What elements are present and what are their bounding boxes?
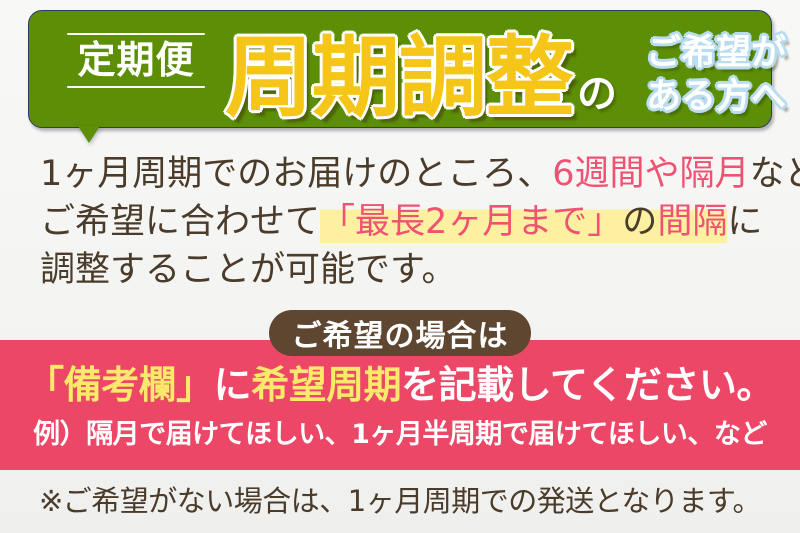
kicker-rule-bottom [67, 86, 205, 88]
pink-headline-part-b: に [214, 363, 252, 407]
kicker-block: 定期便 [61, 33, 211, 88]
kicker-rule-top [67, 33, 205, 35]
pink-example-text: 例）隔月で届けてほしい、1ヶ月半周期で届けてほしい、など [0, 418, 800, 452]
pink-headline: 「備考欄」に希望周期を記載してください。 [0, 362, 800, 408]
body-line1-part-c: など [750, 154, 800, 194]
headline-particle: の [577, 61, 617, 119]
footer-note: ※ご希望がない場合は、1ヶ月周期での発送となります。 [0, 482, 800, 520]
pink-callout-band: 「備考欄」に希望周期を記載してください。 例）隔月で届けてほしい、1ヶ月半周期で… [0, 340, 800, 470]
headline-sub-line1: ご希望が [633, 31, 799, 75]
pink-headline-part-c: 希望周期 [251, 363, 401, 407]
body-line1-part-b: 6週間や隔月 [552, 154, 749, 194]
condition-badge-label: ご希望の場合は [292, 311, 509, 355]
headline-sub-line2: ある方へ [633, 75, 799, 119]
body-paragraph: 1ヶ月周期でのお届けのところ、6週間や隔月など ご希望に合わせて「最長2ヶ月まで… [40, 150, 770, 294]
promo-banner: 定期便 周期調整 の ご希望が ある方へ 1ヶ月周期でのお届けのところ、6週間や… [0, 0, 800, 533]
speech-bubble-tail-icon [78, 126, 100, 143]
body-line1-part-a: 1ヶ月周期でのお届けのところ、 [40, 154, 552, 194]
pink-headline-part-a: 「備考欄」 [26, 363, 214, 407]
body-line3-text: 調整することが可能です。 [40, 250, 457, 290]
body-line2-part-d: 間隔 [657, 202, 727, 243]
headline-sub: ご希望が ある方へ [633, 31, 799, 119]
body-line2-part-a: ご希望に合わせて [40, 202, 320, 242]
body-line2-part-e: に [727, 202, 762, 242]
pink-headline-part-d: を記載してください。 [401, 363, 774, 407]
body-line-3: 調整することが可能です。 [40, 246, 770, 294]
headline-main: 周期調整 [225, 25, 573, 131]
condition-badge: ご希望の場合は [269, 310, 531, 356]
body-line-1: 1ヶ月周期でのお届けのところ、6週間や隔月など [40, 150, 770, 198]
body-line2-part-c: の [622, 202, 657, 243]
body-line-2: ご希望に合わせて「最長2ヶ月まで」の間隔に [40, 198, 770, 246]
header-green-bubble: 定期便 周期調整 の ご希望が ある方へ [28, 10, 772, 128]
kicker-label: 定期便 [61, 40, 211, 81]
body-line2-part-b: 「最長2ヶ月まで」 [320, 202, 622, 243]
